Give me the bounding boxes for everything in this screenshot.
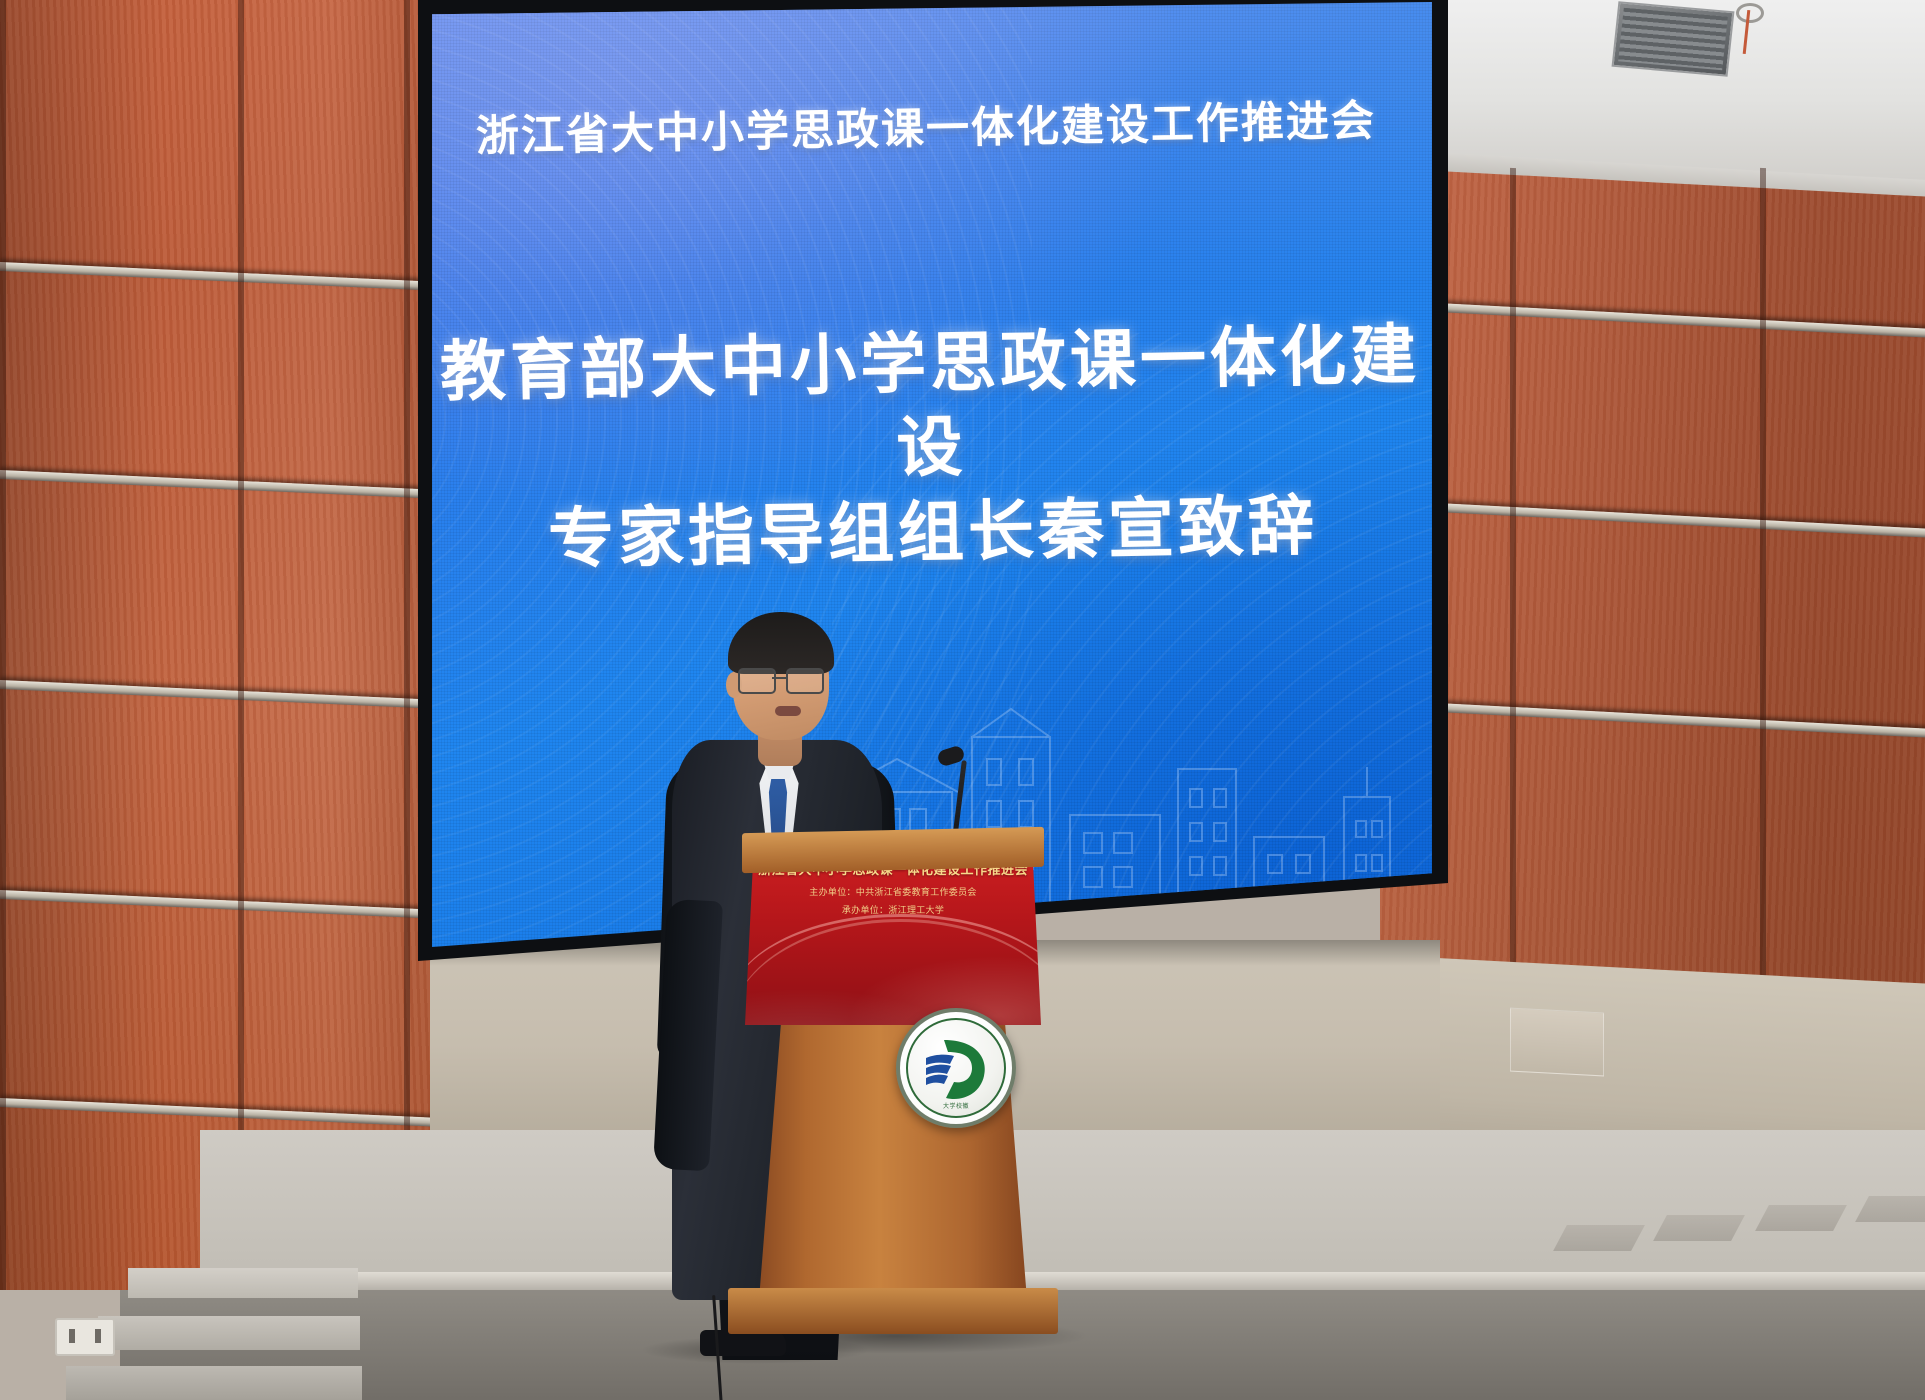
conference-header-text: 浙江省大中小学思政课一体化建设工作推进会 — [432, 85, 1426, 164]
wall-panel-gap-mid — [238, 0, 244, 1290]
wall-panel-gap-r1 — [1510, 168, 1516, 968]
wall-patch — [1510, 1008, 1604, 1077]
wall-panel-gap-right — [404, 0, 410, 1290]
screen-content: 浙江省大中小学思政课一体化建设工作推进会 教育部大中小学思政课一体化建设 专家指… — [432, 2, 1432, 947]
speaker-mouth — [775, 706, 801, 716]
stage-step-mid — [98, 1316, 360, 1350]
podium-top-surface — [742, 827, 1044, 873]
wall-panel-gap-left — [0, 0, 6, 1290]
floor-tile — [1855, 1196, 1925, 1222]
podium-banner-organizer: 主办单位：中共浙江省委教育工作委员会 — [745, 885, 1041, 898]
speaker-eyeglasses-icon — [738, 668, 824, 692]
floor-tile — [1755, 1205, 1847, 1231]
stage-step-bottom — [66, 1366, 362, 1400]
podium-base — [728, 1288, 1058, 1334]
wall-panel-gap-r2 — [1760, 168, 1766, 998]
floor-power-outlet-icon — [55, 1318, 115, 1356]
screen-title-line-2: 专家指导组组长秦宣致辞 — [432, 482, 1432, 584]
stage-step-top — [128, 1268, 358, 1298]
university-emblem-icon: 大学校徽 — [896, 1008, 1016, 1128]
floor-tile — [1553, 1225, 1645, 1251]
eyeglass-lens-left — [738, 668, 776, 694]
emblem-label: 大学校徽 — [900, 1101, 1012, 1110]
eyeglass-lens-right — [786, 668, 824, 694]
floor-tile — [1653, 1215, 1745, 1241]
eyeglass-bridge — [772, 677, 786, 679]
led-screen: 浙江省大中小学思政课一体化建设工作推进会 教育部大中小学思政课一体化建设 专家指… — [432, 2, 1432, 947]
screen-title-line-1: 教育部大中小学思政课一体化建设 — [432, 313, 1432, 499]
podium-banner-host: 承办单位：浙江理工大学 — [745, 903, 1041, 916]
left-wood-wall — [0, 0, 470, 1290]
screen-title-block: 教育部大中小学思政课一体化建设 专家指导组组长秦宣致辞 — [432, 313, 1432, 584]
ceiling-air-vent-icon — [1612, 1, 1735, 77]
screenshot-root: 浙江省大中小学思政课一体化建设工作推进会 教育部大中小学思政课一体化建设 专家指… — [0, 0, 1925, 1400]
